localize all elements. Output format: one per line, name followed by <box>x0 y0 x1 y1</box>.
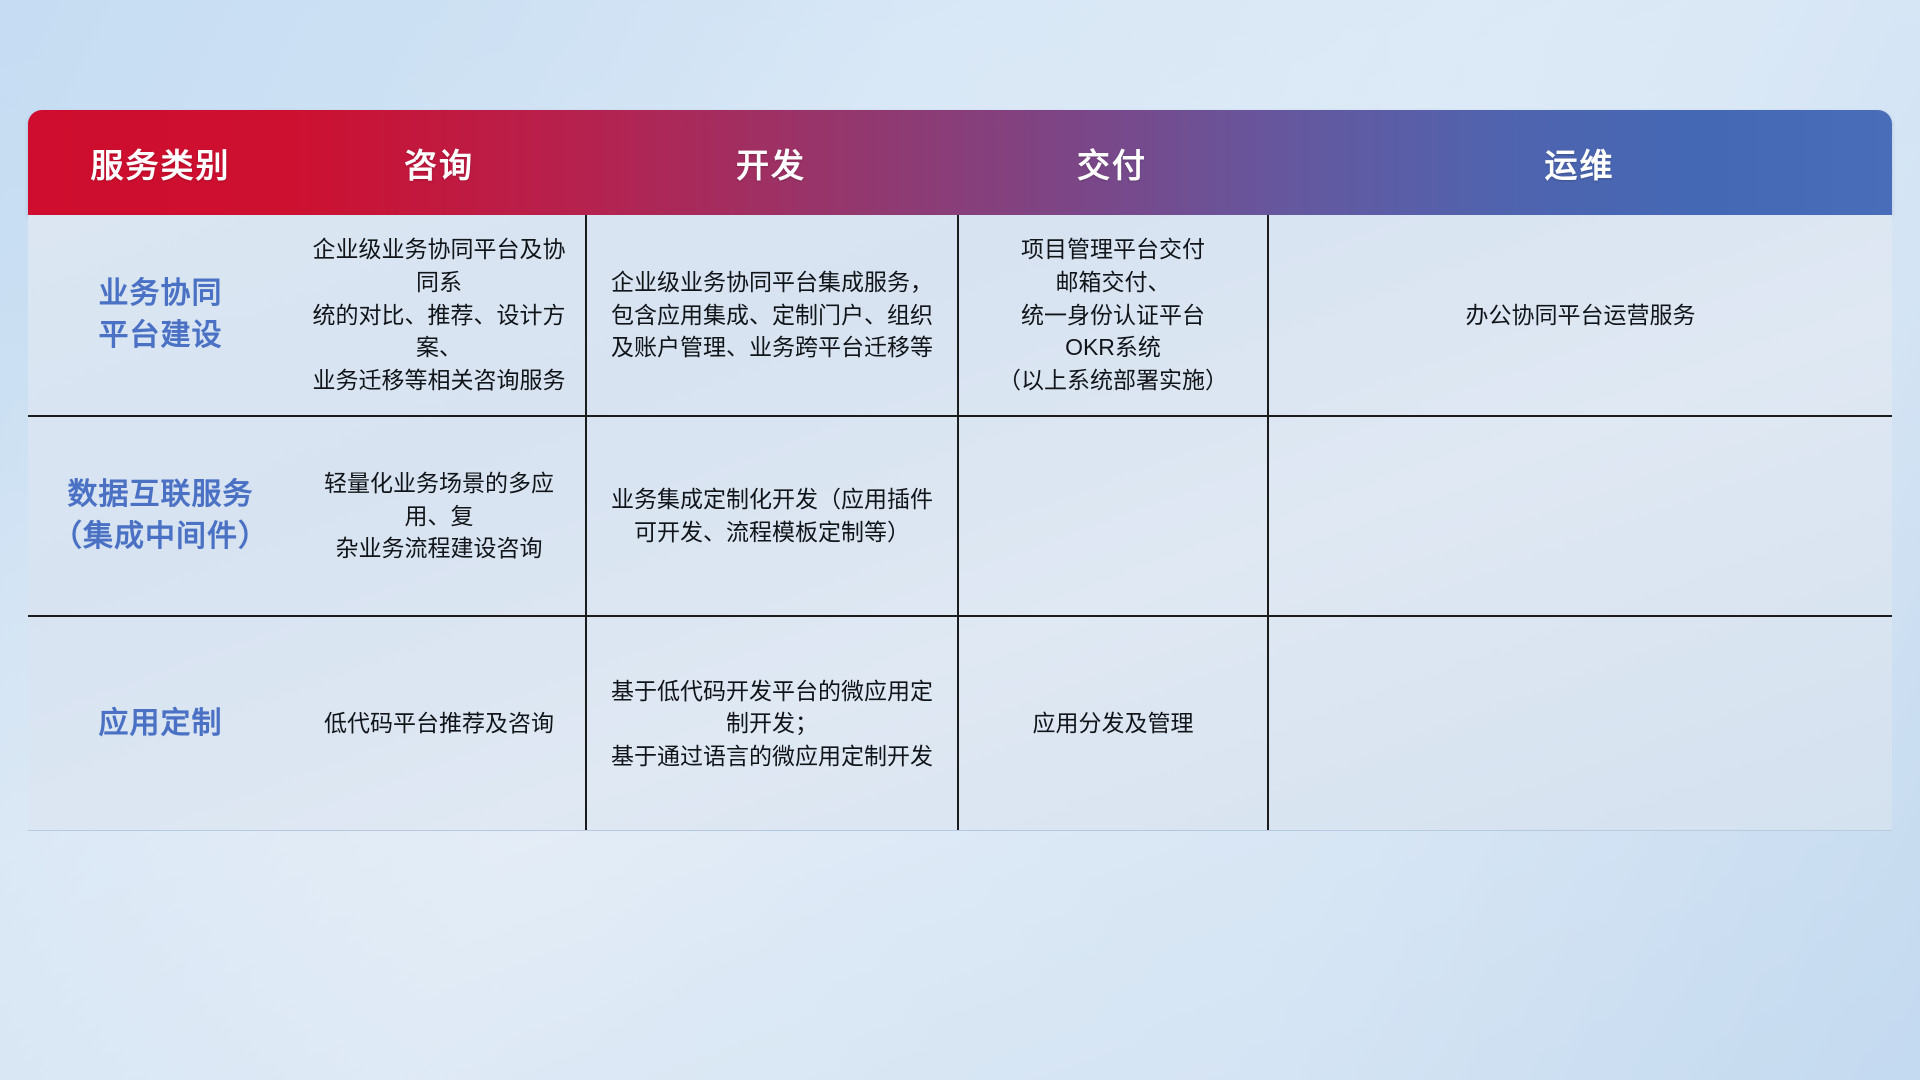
row-label-cell: 业务协同 平台建设 <box>28 215 293 415</box>
slide-canvas: 服务类别 咨询 开发 交付 运维 业务协同 平台建设 企业级业务协同平台及协同系… <box>0 0 1920 1080</box>
table-row: 应用定制 低代码平台推荐及咨询 基于低代码开发平台的微应用定 制开发； 基于通过… <box>28 615 1892 830</box>
cell-delivery: 项目管理平台交付 邮箱交付、 统一身份认证平台 OKR系统 （以上系统部署实施） <box>957 215 1267 415</box>
cell-development: 基于低代码开发平台的微应用定 制开发； 基于通过语言的微应用定制开发 <box>585 617 957 830</box>
table-header-row: 服务类别 咨询 开发 交付 运维 <box>28 110 1892 215</box>
service-matrix-table: 服务类别 咨询 开发 交付 运维 业务协同 平台建设 企业级业务协同平台及协同系… <box>28 110 1892 831</box>
cell-operations: 办公协同平台运营服务 <box>1267 215 1892 415</box>
column-header-service-category: 服务类别 <box>28 110 293 215</box>
cell-development: 业务集成定制化开发（应用插件 可开发、流程模板定制等） <box>585 417 957 615</box>
cell-delivery <box>957 417 1267 615</box>
column-header-development: 开发 <box>585 110 957 215</box>
cell-consulting: 低代码平台推荐及咨询 <box>293 617 585 830</box>
row-label-text: 数据互联服务 （集成中间件） <box>52 474 269 558</box>
row-label-text: 业务协同 平台建设 <box>99 273 223 357</box>
cell-consulting: 轻量化业务场景的多应用、复 杂业务流程建设咨询 <box>293 417 585 615</box>
row-label-cell: 应用定制 <box>28 617 293 830</box>
cell-operations <box>1267 617 1892 830</box>
column-header-consulting: 咨询 <box>293 110 585 215</box>
column-header-delivery: 交付 <box>957 110 1267 215</box>
table-row: 数据互联服务 （集成中间件） 轻量化业务场景的多应用、复 杂业务流程建设咨询 业… <box>28 415 1892 615</box>
cell-development: 企业级业务协同平台集成服务， 包含应用集成、定制门户、组织 及账户管理、业务跨平… <box>585 215 957 415</box>
cell-delivery: 应用分发及管理 <box>957 617 1267 830</box>
table-row: 业务协同 平台建设 企业级业务协同平台及协同系 统的对比、推荐、设计方案、 业务… <box>28 215 1892 415</box>
column-header-operations: 运维 <box>1267 110 1892 215</box>
cell-consulting: 企业级业务协同平台及协同系 统的对比、推荐、设计方案、 业务迁移等相关咨询服务 <box>293 215 585 415</box>
cell-operations <box>1267 417 1892 615</box>
row-label-text: 应用定制 <box>99 703 223 745</box>
table-body: 业务协同 平台建设 企业级业务协同平台及协同系 统的对比、推荐、设计方案、 业务… <box>28 215 1892 831</box>
row-label-cell: 数据互联服务 （集成中间件） <box>28 417 293 615</box>
